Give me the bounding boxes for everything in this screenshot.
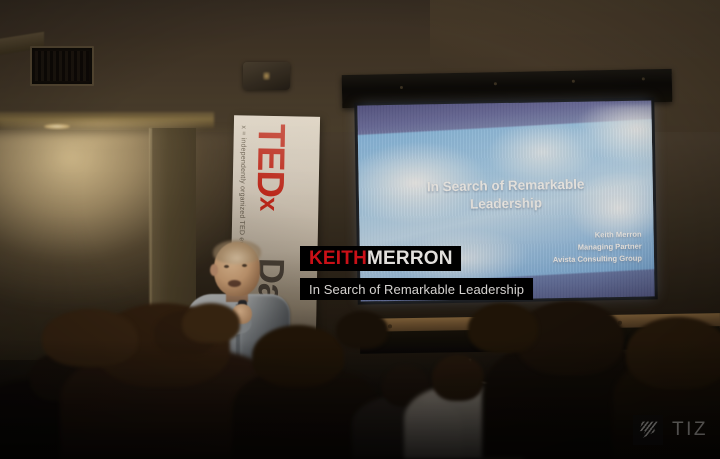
presenter-hand <box>232 304 252 324</box>
watermark-text: TIZ <box>672 419 708 441</box>
lower-third-first-name: KEITH <box>309 249 367 268</box>
valance-screw <box>400 86 403 89</box>
tiz-logo-icon <box>633 415 663 445</box>
vent-slats <box>35 51 89 81</box>
projection-screen-assembly: In Search of Remarkable Leadership Keith… <box>345 72 675 312</box>
ledge-peg <box>388 324 392 328</box>
valance-screw <box>572 80 575 83</box>
presenter-figure <box>186 238 290 368</box>
photo-canvas: x = independently organized TED event TE… <box>0 0 720 459</box>
slide-title: In Search of Remarkable Leadership <box>369 175 644 216</box>
lower-third-subtitle: In Search of Remarkable Leadership <box>309 283 524 296</box>
valance-screw <box>642 77 645 80</box>
slide-credit-block: Keith Merron Managing Partner Avista Con… <box>452 229 643 268</box>
valance-screw <box>494 82 497 85</box>
tiz-logo-glyph <box>639 421 658 440</box>
ledge-peg <box>502 323 506 327</box>
presenter-eye <box>224 265 229 268</box>
lower-third-subtitle-bar: In Search of Remarkable Leadership <box>300 278 533 300</box>
wall-pillar-edge <box>149 128 152 363</box>
presenter-ear <box>210 264 218 276</box>
recessed-downlight-icon <box>44 124 70 129</box>
presenter-eye <box>242 264 247 267</box>
wall-speaker-icon <box>243 62 290 90</box>
lower-third-last-name: MERRON <box>367 249 453 268</box>
lower-third-name-bar: KEITHMERRON <box>300 246 461 271</box>
projected-slide: In Search of Remarkable Leadership Keith… <box>357 100 654 301</box>
presenter-hair <box>213 240 261 264</box>
slide-glare <box>573 104 654 166</box>
watermark: TIZ <box>633 415 708 445</box>
presenter-mouth <box>228 280 241 287</box>
ceiling-vent-icon <box>30 46 94 86</box>
ledge-peg <box>618 321 622 325</box>
